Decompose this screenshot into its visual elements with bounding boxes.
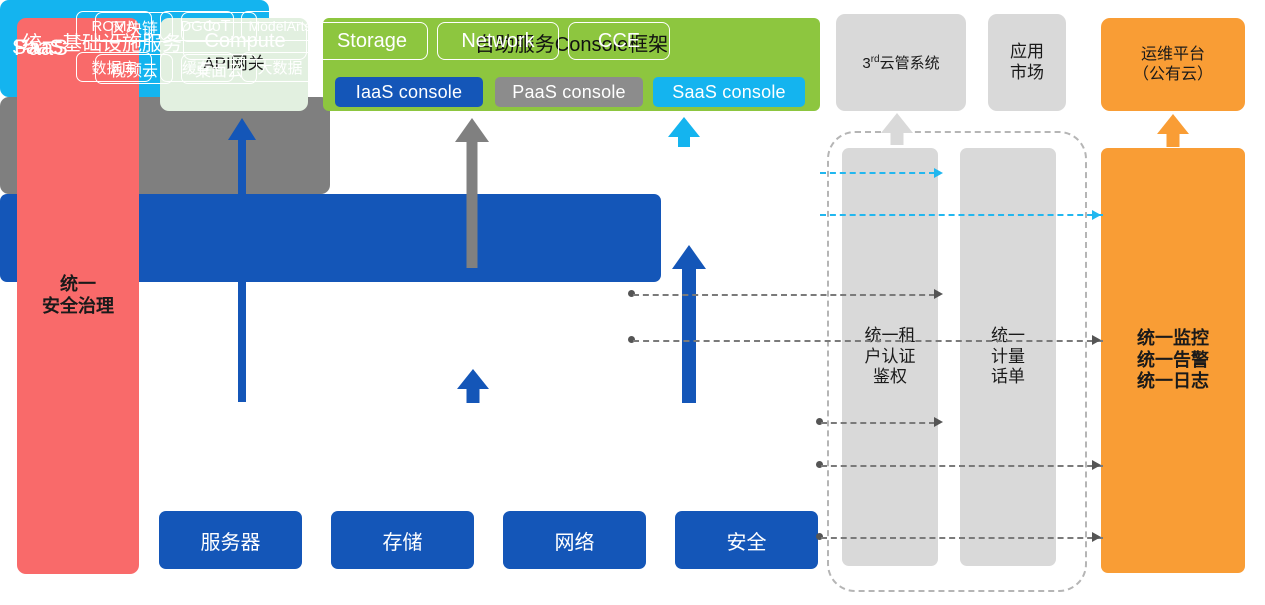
hardware-item-network[interactable]: 网络 bbox=[503, 511, 646, 569]
paas-console-chip[interactable]: PaaS console bbox=[495, 77, 643, 107]
arrow-iaas-to-saas bbox=[672, 245, 706, 403]
connector-paas-to-auth bbox=[633, 294, 935, 296]
paas-item-database[interactable]: 数据库 bbox=[76, 52, 152, 82]
arrowhead-saas-to-auth bbox=[934, 168, 943, 178]
saas-console-chip[interactable]: SaaS console bbox=[653, 77, 805, 107]
metering-billing-label: 统一 计量 话单 bbox=[991, 326, 1025, 388]
security-governance-label: 统一 安全治理 bbox=[42, 274, 114, 318]
app-market-box: 应用 市场 bbox=[988, 14, 1066, 111]
arrowhead-iaas-to-auth bbox=[934, 417, 943, 427]
third-party-cloud-mgmt-box: 3rd云管系统 bbox=[836, 14, 966, 111]
arrowhead-paas-to-auth bbox=[934, 289, 943, 299]
arrow-iaas-to-paas bbox=[457, 369, 489, 403]
iaas-item-cce[interactable]: CCE bbox=[568, 22, 670, 60]
arrow-iaas-to-api-gateway bbox=[228, 118, 256, 402]
arrowhead-hardware-to-ops bbox=[1092, 532, 1101, 542]
arrowhead-iaas-to-ops bbox=[1092, 460, 1101, 470]
iaas-item-compute[interactable]: Compute bbox=[183, 22, 307, 60]
hardware-item-security[interactable]: 安全 bbox=[675, 511, 818, 569]
ops-platform-label: 运维平台 （公有云） bbox=[1133, 45, 1213, 84]
ops-platform-box: 运维平台 （公有云） bbox=[1101, 18, 1245, 111]
ops-monitoring-label: 统一监控 统一告警 统一日志 bbox=[1137, 328, 1209, 394]
architecture-diagram: 统一 安全治理 API网关 自助服务Console框架 IaaS console… bbox=[0, 0, 1265, 605]
connector-paas-to-ops bbox=[633, 340, 1103, 342]
iaas-layer-title: 统一基础设施服务 bbox=[22, 27, 182, 56]
connector-hardware-to-ops bbox=[821, 537, 1103, 539]
arrow-to-third-party-cloud bbox=[881, 113, 913, 145]
hardware-item-storage[interactable]: 存储 bbox=[331, 511, 474, 569]
arrow-paas-to-console bbox=[455, 118, 489, 268]
metering-billing-column: 统一 计量 话单 bbox=[960, 148, 1056, 566]
third-party-cloud-mgmt-label: 3rd云管系统 bbox=[862, 52, 939, 73]
connector-saas-to-ops bbox=[820, 214, 1103, 216]
connector-iaas-to-ops bbox=[821, 465, 1103, 467]
app-market-label: 应用 市场 bbox=[1010, 42, 1044, 83]
tenant-auth-label: 统一租 户认证 鉴权 bbox=[865, 326, 916, 388]
security-governance-panel: 统一 安全治理 bbox=[17, 18, 139, 574]
iaas-item-network[interactable]: Network bbox=[437, 22, 559, 60]
arrowhead-paas-to-ops bbox=[1092, 335, 1101, 345]
arrow-to-ops-platform bbox=[1157, 114, 1189, 147]
iaas-item-storage[interactable]: Storage bbox=[316, 22, 428, 60]
arrowhead-saas-to-ops bbox=[1092, 210, 1101, 220]
hardware-item-server[interactable]: 服务器 bbox=[159, 511, 302, 569]
connector-saas-to-auth bbox=[820, 172, 935, 174]
connector-iaas-to-auth bbox=[821, 422, 935, 424]
tenant-auth-column: 统一租 户认证 鉴权 bbox=[842, 148, 938, 566]
iaas-console-chip[interactable]: IaaS console bbox=[335, 77, 483, 107]
arrow-saas-to-console bbox=[668, 117, 700, 147]
ops-monitoring-panel: 统一监控 统一告警 统一日志 bbox=[1101, 148, 1245, 573]
